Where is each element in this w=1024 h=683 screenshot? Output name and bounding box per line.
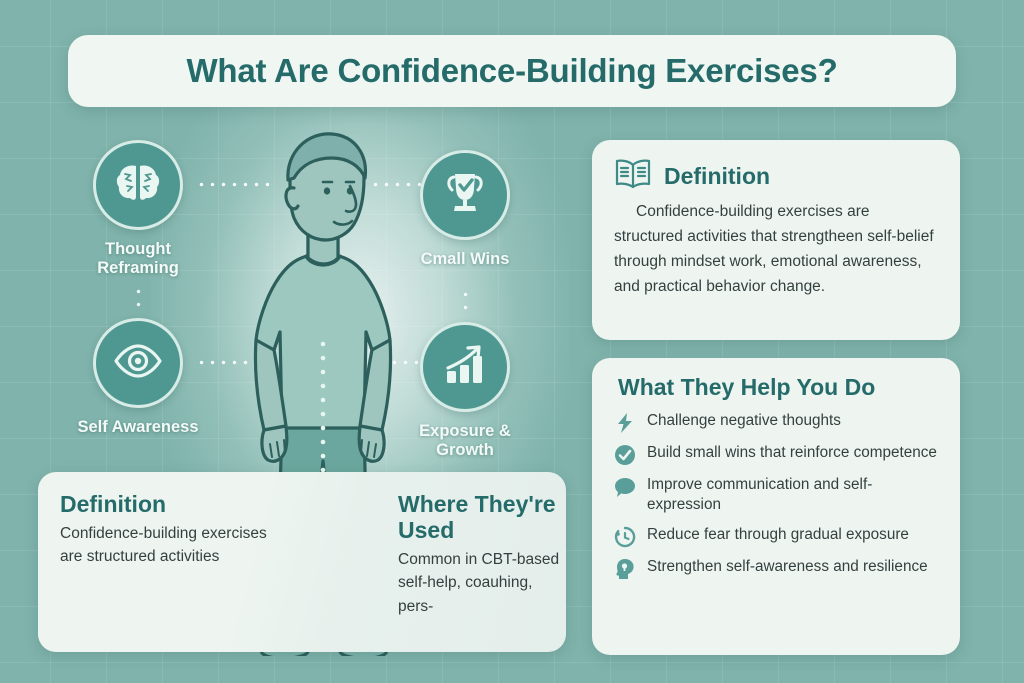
- open-book-icon: [614, 158, 652, 195]
- feature-label: Exposure & Growth: [389, 422, 541, 461]
- bottom-card-usage-body: Common in CBT-based self-help, coauhing,…: [398, 548, 563, 619]
- feature-badge-circle: [420, 322, 510, 412]
- help-list-item-text: Challenge negative thoughts: [647, 411, 841, 431]
- bottom-card-usage-title: Where They're Used: [398, 492, 563, 544]
- feature-badge-circle: [93, 318, 183, 408]
- feature-badge-circle: [93, 140, 183, 230]
- definition-card-body: Confidence-building exercises are struct…: [592, 195, 960, 299]
- title-card: What Are Confidence-Building Exercises?: [68, 35, 956, 107]
- definition-card-title: Definition: [664, 163, 770, 190]
- infographic-canvas: What Are Confidence-Building Exercises?: [0, 0, 1024, 683]
- growth-chart-icon: [441, 343, 489, 392]
- feature-badge-circle: [420, 150, 510, 240]
- bottom-summary-card: Definition Confidence-building exercises…: [38, 472, 566, 652]
- check-circle-icon: [614, 444, 636, 466]
- trophy-icon: [442, 171, 488, 220]
- help-list-item[interactable]: Reduce fear through gradual exposure: [614, 525, 942, 548]
- help-list-item-text: Reduce fear through gradual exposure: [647, 525, 909, 545]
- help-list-item-text: Strengthen self-awareness and resilience: [647, 557, 928, 577]
- bottom-card-definition-title: Definition: [60, 492, 275, 518]
- help-list-item[interactable]: Improve communication and self-expressio…: [614, 475, 942, 516]
- definition-card: Definition Confidence-building exercises…: [592, 140, 960, 340]
- definition-card-header: Definition: [592, 140, 960, 195]
- lightning-bolt-icon: [614, 412, 636, 434]
- bottom-card-definition-body: Confidence-building exercises are struct…: [60, 522, 275, 569]
- feature-small-wins[interactable]: Cmall Wins: [389, 150, 541, 269]
- bottom-card-usage-column: Where They're Used Common in CBT-based s…: [398, 492, 563, 618]
- feature-label: Cmall Wins: [389, 250, 541, 269]
- feature-label: Thought Reframing: [62, 240, 214, 279]
- feature-exposure-growth[interactable]: Exposure & Growth: [389, 322, 541, 461]
- connector-dots-vertical-right: [463, 288, 468, 318]
- eye-icon: [113, 344, 163, 383]
- help-list-item-text: Improve communication and self-expressio…: [647, 475, 942, 516]
- help-card-title: What They Help You Do: [592, 358, 960, 401]
- help-list-item-text: Build small wins that reinforce competen…: [647, 443, 937, 463]
- help-list: Challenge negative thoughts Build small …: [592, 411, 960, 580]
- page-title: What Are Confidence-Building Exercises?: [186, 52, 837, 90]
- timer-icon: [614, 526, 636, 548]
- help-list-item[interactable]: Build small wins that reinforce competen…: [614, 443, 942, 466]
- help-list-item[interactable]: Strengthen self-awareness and resilience: [614, 557, 942, 580]
- brain-icon: [115, 162, 161, 209]
- feature-self-awareness[interactable]: Self Awareness: [62, 318, 214, 437]
- feature-label: Self Awareness: [62, 418, 214, 437]
- speech-bubble-icon: [614, 476, 636, 498]
- bottom-card-definition-column: Definition Confidence-building exercises…: [60, 492, 275, 569]
- help-list-item[interactable]: Challenge negative thoughts: [614, 411, 942, 434]
- connector-dots-vertical-left: [136, 285, 141, 315]
- head-profile-icon: [614, 558, 636, 580]
- help-card: What They Help You Do Challenge negative…: [592, 358, 960, 655]
- feature-thought-reframing[interactable]: Thought Reframing: [62, 140, 214, 279]
